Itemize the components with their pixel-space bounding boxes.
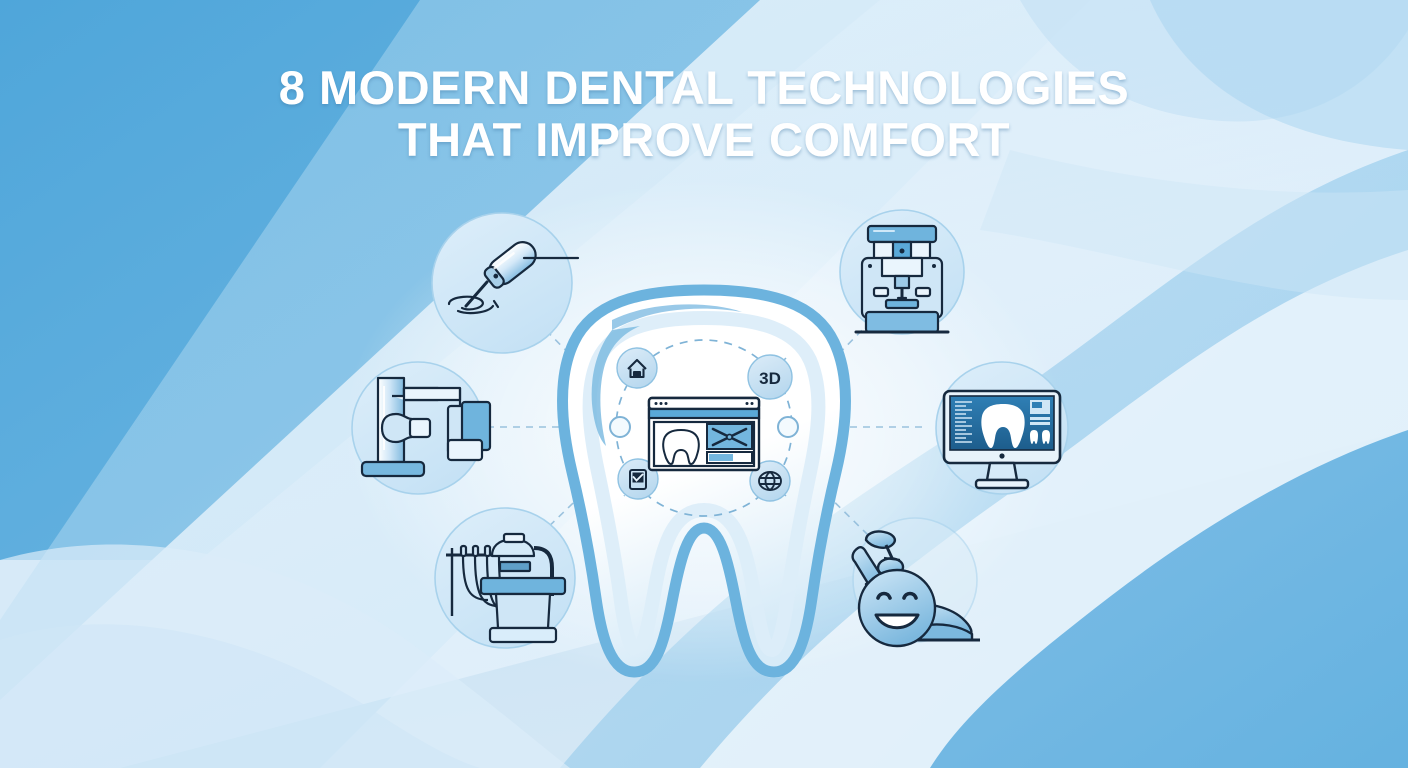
tech-circle-delivery[interactable] (435, 508, 575, 648)
inner-node-right-dot[interactable] (778, 417, 798, 437)
node-dot-icon (778, 417, 798, 437)
dental-software-window[interactable] (649, 398, 759, 470)
inner-node-left-dot[interactable] (610, 417, 630, 437)
tech-circle-chair[interactable] (853, 518, 980, 646)
tech-circle-scanner[interactable] (352, 362, 490, 494)
poster-canvas: 8 MODERN DENTAL TECHNOLOGIES THAT IMPROV… (0, 0, 1408, 768)
progress-bar (707, 452, 752, 463)
infographic-artwork: 3D (0, 0, 1408, 768)
node-dot-icon (610, 417, 630, 437)
inner-node-3d-label: 3D (759, 369, 781, 388)
tech-circle-laser[interactable] (432, 213, 578, 353)
tooth-graphic (562, 290, 845, 678)
window-dots-left (655, 402, 668, 405)
tech-circle-imaging[interactable] (936, 362, 1068, 494)
cadcam-mill-icon (856, 226, 948, 332)
inner-node-home[interactable] (617, 348, 657, 388)
crossed-tools-panel (707, 424, 752, 449)
tech-circle-milling[interactable] (840, 210, 964, 334)
inner-node-3d[interactable]: 3D (748, 355, 792, 399)
